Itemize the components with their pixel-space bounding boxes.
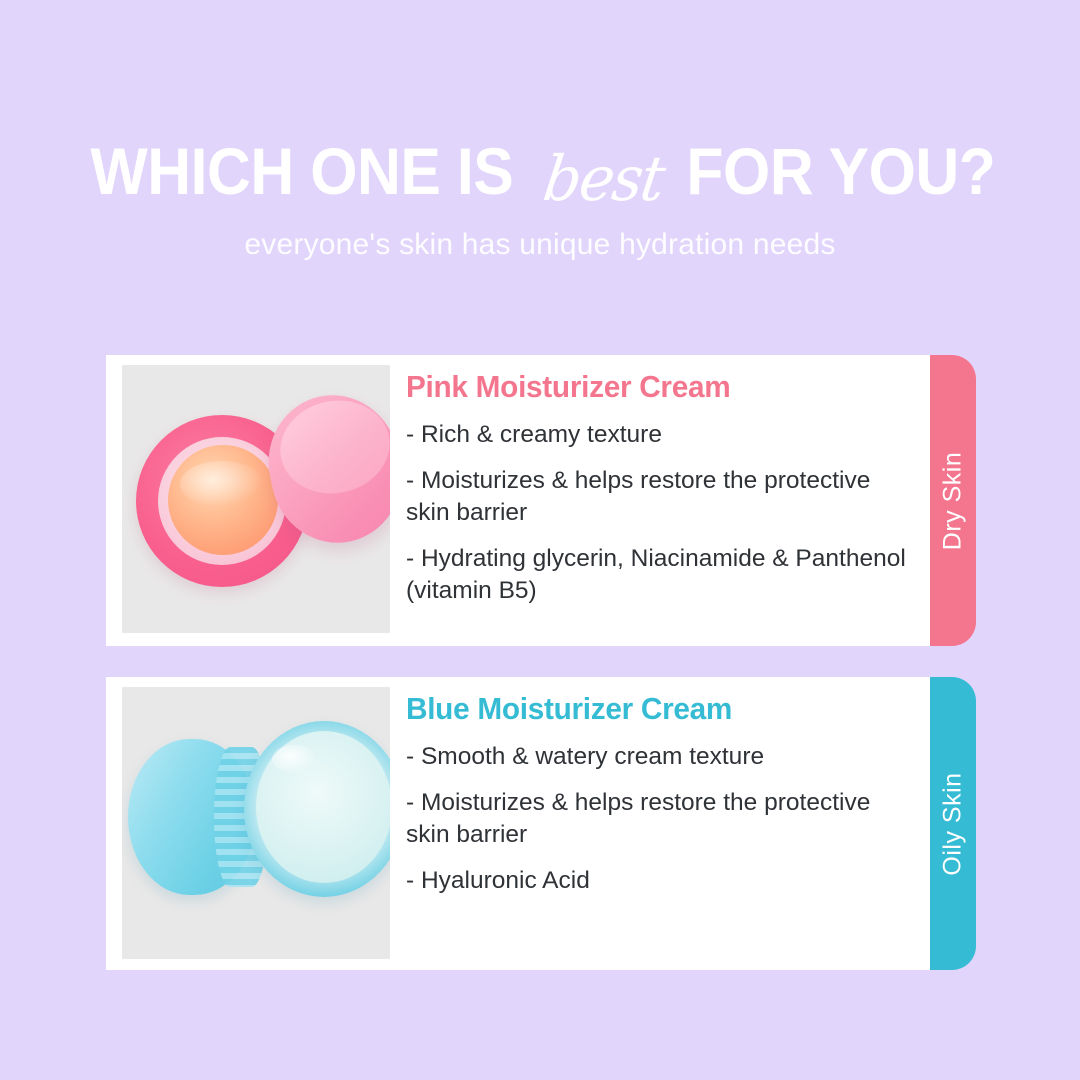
product-feature: - Moisturizes & helps restore the protec… (406, 787, 916, 852)
skin-type-tab-oily: Oily Skin (930, 677, 976, 970)
product-feature: - Hyaluronic Acid (406, 865, 916, 898)
headline-script-word: best (540, 148, 668, 210)
product-card-pink: Pink Moisturizer Cream - Rich & creamy t… (106, 355, 930, 646)
cream-highlight-icon (272, 745, 316, 773)
page-subtitle: everyone's skin has unique hydration nee… (0, 228, 1080, 262)
skin-type-tab-label: Dry Skin (939, 451, 968, 549)
product-feature: - Hydrating glycerin, Niacinamide & Pant… (406, 543, 916, 608)
product-details-blue: Blue Moisturizer Cream - Smooth & watery… (406, 691, 916, 910)
headline-part-two: FOR YOU? (686, 138, 995, 204)
cream-highlight-icon (180, 461, 264, 507)
product-title-blue: Blue Moisturizer Cream (406, 691, 896, 727)
skin-type-tab-label: Oily Skin (939, 772, 968, 875)
product-details-pink: Pink Moisturizer Cream - Rich & creamy t… (406, 369, 916, 621)
product-feature: - Moisturizes & helps restore the protec… (406, 465, 916, 530)
product-title-pink: Pink Moisturizer Cream (406, 369, 896, 405)
product-photo-blue (122, 687, 390, 959)
page-headline: WHICH ONE ISbestFOR YOU? (0, 138, 1080, 204)
product-card-blue: Blue Moisturizer Cream - Smooth & watery… (106, 677, 930, 970)
product-feature: - Rich & creamy texture (406, 419, 916, 452)
headline-part-one: WHICH ONE IS (90, 138, 513, 204)
header-section: WHICH ONE ISbestFOR YOU? everyone's skin… (0, 0, 1080, 320)
product-feature: - Smooth & watery cream texture (406, 741, 916, 774)
product-photo-pink (122, 365, 390, 633)
skin-type-tab-dry: Dry Skin (930, 355, 976, 646)
